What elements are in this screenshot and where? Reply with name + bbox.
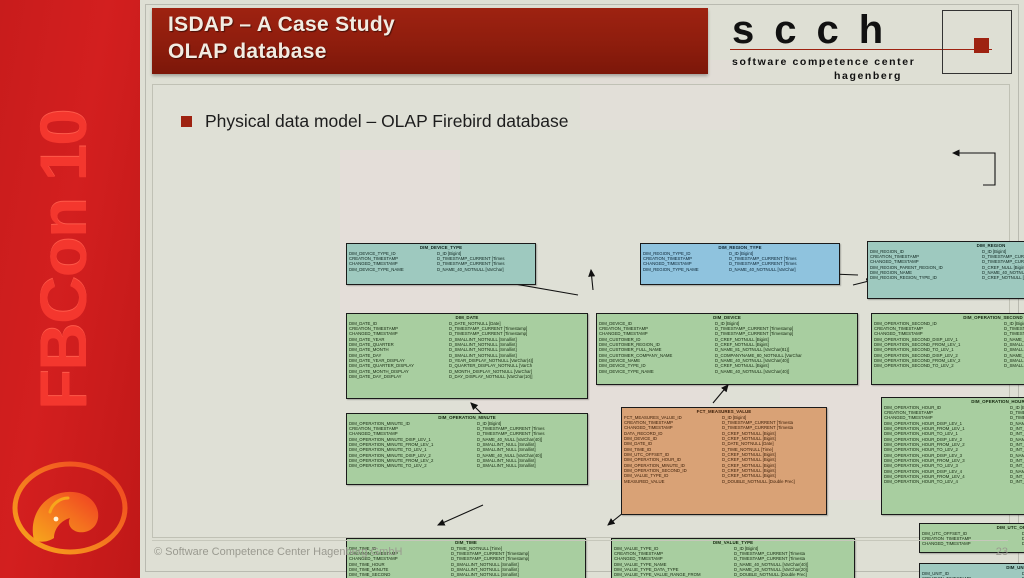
firebird-logo-icon xyxy=(10,446,130,564)
er-column-type: D_DAY_DISPLAY_NOTNULL [VarChar(10)] xyxy=(449,374,585,379)
er-table-dim_time[interactable]: DIM_TIMEDIM_TIME_IDD_TIME_NOTNULL [Time]… xyxy=(346,538,586,578)
er-column-row: DIM_DATE_DAY_DISPLAYD_DAY_DISPLAY_NOTNUL… xyxy=(349,374,585,379)
scch-logo: scch software competence center hagenber… xyxy=(714,6,1014,86)
er-column-type: D_NAME_40_NOTNULL [VarChar(40)] xyxy=(715,369,855,374)
er-column-row: DIM_DEVICE_TYPE_NAMED_NAME_40_NOTNULL [V… xyxy=(599,369,855,374)
er-table-columns: DIM_OPERATION_HOUR_IDD_ID [Bigint]CREATI… xyxy=(882,405,1024,486)
er-table-dim_region[interactable]: DIM_REGIONDIM_REGION_IDD_ID [Bigint]CREA… xyxy=(867,241,1024,299)
er-table-dim_device_type[interactable]: DIM_DEVICE_TYPEDIM_DEVICE_TYPE_IDD_ID [B… xyxy=(346,243,536,285)
er-table-dim_device[interactable]: DIM_DEVICEDIM_DEVICE_IDD_ID [Bigint]CREA… xyxy=(596,313,858,385)
er-column-type: D_NAME_40_NOTNULL [VarChar] xyxy=(729,267,837,272)
slide-page: ISDAP – A Case Study OLAP database scch … xyxy=(140,0,1024,578)
er-column-type: D_NAME_40_NOTNULL [VarChar] xyxy=(437,267,533,272)
er-column-name: DIM_DEVICE_TYPE_NAME xyxy=(599,369,715,374)
er-column-type: D_SMALLINT_NULL [Smallint] xyxy=(477,463,585,468)
er-table-dim_utc_offset[interactable]: DIM_UTC_OFFSETDIM_UTC_OFFSET_IDD_ID [Big… xyxy=(919,523,1024,553)
er-column-name: DIM_DEVICE_TYPE_NAME xyxy=(349,267,437,272)
er-column-type: D_SMALLINT_NULL [Smallint] xyxy=(1004,363,1024,368)
er-column-row: DIM_REGION_REGION_TYPE_IDD_CREF_NOTNULL … xyxy=(870,275,1024,280)
er-column-row: CHANGED_TIMESTAMPD_TIMESTAMP_CURRENT [Ti… xyxy=(922,541,1024,546)
er-table-title: DIM_OPERATION_HOUR xyxy=(882,398,1024,405)
er-table-title: DIM_REGION xyxy=(868,242,1024,249)
conference-banner: FBCon 10 xyxy=(0,0,140,578)
er-table-columns: DIM_DEVICE_TYPE_IDD_ID [Bigint]CREATION_… xyxy=(347,251,535,273)
er-column-type: D_CREF_NOTNULL [Bigint] xyxy=(982,275,1024,280)
er-table-title: DIM_UTC_OFFSET xyxy=(920,524,1024,531)
er-table-dim_region_type[interactable]: DIM_REGION_TYPEDIM_REGION_TYPE_IDD_ID [B… xyxy=(640,243,840,285)
page-title: ISDAP – A Case Study xyxy=(168,13,395,37)
er-column-row: DIM_OPERATION_MINUTE_TO_LEV_2D_SMALLINT_… xyxy=(349,463,585,468)
scch-tagline-line2: hagenberg xyxy=(834,70,902,82)
er-table-dim_unit[interactable]: DIM_UNITDIM_UNIT_IDD_ID [Bigint]CREATION… xyxy=(919,563,1024,578)
er-table-dim_operation_hour[interactable]: DIM_OPERATION_HOURDIM_OPERATION_HOUR_IDD… xyxy=(881,397,1024,515)
footer-page-number: 23 xyxy=(996,546,1008,558)
er-table-title: DIM_UNIT xyxy=(920,564,1024,571)
er-table-columns: DIM_UNIT_IDD_ID [Bigint]CREATION_TIMESTA… xyxy=(920,571,1024,578)
er-column-type: D_INT_NULL [Integer] xyxy=(1010,479,1024,484)
er-table-title: DIM_OPERATION_SECOND xyxy=(872,314,1024,321)
footer-divider xyxy=(152,540,1008,541)
er-table-columns: DIM_OPERATION_SECOND_IDD_ID [Bigint]CREA… xyxy=(872,321,1024,370)
er-table-columns: DIM_REGION_TYPE_IDD_ID [Bigint]CREATION_… xyxy=(641,251,839,273)
er-table-title: DIM_OPERATION_MINUTE xyxy=(347,414,587,421)
er-column-row: DIM_REGION_TYPE_NAMED_NAME_40_NOTNULL [V… xyxy=(643,267,837,272)
er-table-dim_date[interactable]: DIM_DATEDIM_DATE_IDD_DATE_NOTNULL [Date]… xyxy=(346,313,588,399)
er-table-columns: DIM_VALUE_TYPE_IDD_ID [Bigint]CREATION_T… xyxy=(612,546,854,578)
content-frame: Physical data model – OLAP Firebird data… xyxy=(152,84,1010,538)
er-column-row: DIM_OPERATION_HOUR_TO_LEV_4D_INT_NULL [I… xyxy=(884,479,1024,484)
er-table-fct_measures_value[interactable]: FCT_MEASURES_VALUEFCT_MEASURES_VALUE_IDD… xyxy=(621,407,827,515)
er-table-title: DIM_REGION_TYPE xyxy=(641,244,839,251)
slide-title-bar: ISDAP – A Case Study OLAP database xyxy=(152,8,708,74)
er-column-name: DIM_OPERATION_MINUTE_TO_LEV_2 xyxy=(349,463,477,468)
er-table-title: FCT_MEASURES_VALUE xyxy=(622,408,826,415)
scch-wordmark: scch xyxy=(732,8,903,53)
scch-logo-dot xyxy=(974,38,989,53)
er-table-columns: DIM_OPERATION_MINUTE_IDD_ID [Bigint]CREA… xyxy=(347,421,587,470)
er-table-title: DIM_DATE xyxy=(347,314,587,321)
er-table-dim_value_type[interactable]: DIM_VALUE_TYPEDIM_VALUE_TYPE_IDD_ID [Big… xyxy=(611,538,855,578)
er-table-title: DIM_DEVICE_TYPE xyxy=(347,244,535,251)
er-table-columns: DIM_DEVICE_IDD_ID [Bigint]CREATION_TIMES… xyxy=(597,321,857,375)
er-table-columns: DIM_REGION_IDD_ID [Bigint]CREATION_TIMES… xyxy=(868,249,1024,282)
er-column-type: D_DOUBLE_NOTNULL [Double Prec] xyxy=(722,479,824,484)
er-table-columns: FCT_MEASURES_VALUE_IDD_ID [Bigint]CREATI… xyxy=(622,415,826,485)
er-column-name: DIM_REGION_REGION_TYPE_ID xyxy=(870,275,982,280)
er-column-name: DIM_DATE_DAY_DISPLAY xyxy=(349,374,449,379)
conference-banner-label: FBCon 10 xyxy=(3,25,123,495)
slide: FBCon 10 ISDAP – A Case Study OLA xyxy=(0,0,1024,578)
er-table-columns: DIM_DATE_IDD_DATE_NOTNULL [Date]CREATION… xyxy=(347,321,587,381)
er-column-row: MEASURED_VALUED_DOUBLE_NOTNULL [Double P… xyxy=(624,479,824,484)
er-column-name: DIM_OPERATION_HOUR_TO_LEV_4 xyxy=(884,479,1010,484)
er-column-name: DIM_OPERATION_SECOND_TO_LEV_2 xyxy=(874,363,1004,368)
er-table-title: DIM_DEVICE xyxy=(597,314,857,321)
er-diagram: DIM_DEVICE_TYPEDIM_DEVICE_TYPE_IDD_ID [B… xyxy=(153,85,1009,537)
er-column-name: DIM_REGION_TYPE_NAME xyxy=(643,267,729,272)
er-table-dim_operation_second[interactable]: DIM_OPERATION_SECONDDIM_OPERATION_SECOND… xyxy=(871,313,1024,385)
er-column-name: MEASURED_VALUE xyxy=(624,479,722,484)
footer-copyright: © Software Competence Center Hagenberg G… xyxy=(154,546,402,558)
er-column-row: DIM_DEVICE_TYPE_NAMED_NAME_40_NOTNULL [V… xyxy=(349,267,533,272)
er-column-row: DIM_OPERATION_SECOND_TO_LEV_2D_SMALLINT_… xyxy=(874,363,1024,368)
page-subtitle: OLAP database xyxy=(168,40,327,64)
er-table-dim_operation_minute[interactable]: DIM_OPERATION_MINUTEDIM_OPERATION_MINUTE… xyxy=(346,413,588,485)
scch-tagline-line1: software competence center xyxy=(732,56,915,68)
